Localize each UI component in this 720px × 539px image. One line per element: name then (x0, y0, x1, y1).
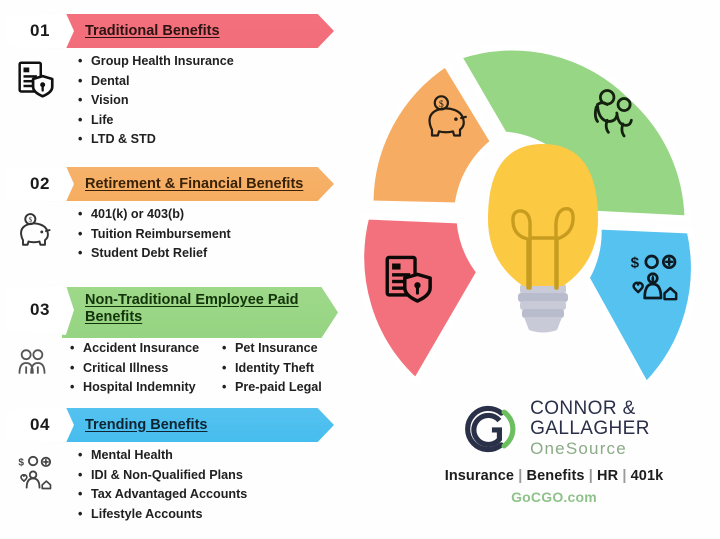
service-insurance: Insurance (445, 468, 514, 484)
two-people-icon (12, 343, 58, 389)
section-header-03: 03 Non-Traditional Employee Paid Benefit… (0, 283, 390, 337)
logo-line-2: GALLAGHER (530, 419, 650, 439)
section-header-04: 04 Trending Benefits (0, 404, 390, 444)
list-item: IDI & Non-Qualified Plans (78, 466, 390, 486)
section-number-badge-01: 01 (6, 13, 74, 49)
benefit-list-02: 401(k) or 403(b) Tuition Reimbursement S… (0, 205, 390, 264)
service-separator: | (518, 468, 522, 484)
two-people-icon (583, 84, 639, 140)
piggy-bank-icon: $ (418, 90, 474, 146)
section-title-banner-02: Retirement & Financial Benefits (62, 167, 334, 201)
benefits-list-column: 01 Traditional Benefits (0, 0, 390, 539)
benefit-section-01: 01 Traditional Benefits (0, 10, 390, 150)
list-item: Mental Health (78, 446, 390, 466)
brand-block: CONNOR & GALLAGHER OneSource Insurance |… (398, 398, 710, 534)
section-header-01: 01 Traditional Benefits (0, 10, 390, 50)
service-401k: 401k (631, 468, 664, 484)
list-item: 401(k) or 403(b) (78, 205, 390, 225)
benefit-list-01: Group Health Insurance Dental Vision Lif… (0, 52, 390, 150)
logo-row: CONNOR & GALLAGHER OneSource (398, 398, 710, 460)
document-shield-icon (12, 56, 58, 102)
section-body-04: $ Mental Health IDI & Non-Qualified Plan… (0, 446, 390, 524)
list-item: Vision (78, 91, 390, 111)
list-item: Group Health Insurance (78, 52, 390, 72)
benefit-section-04: 04 Trending Benefits $ (0, 404, 390, 524)
logo-line-3: OneSource (530, 439, 650, 459)
section-title-banner-03: Non-Traditional Employee Paid Benefits (62, 287, 338, 338)
service-hr: HR (597, 468, 618, 484)
list-item: Hospital Indemnity (70, 378, 222, 398)
svg-text:$: $ (631, 255, 640, 272)
benefit-section-02: 02 Retirement & Financial Benefits $ (0, 163, 390, 264)
logo-wordmark: CONNOR & GALLAGHER OneSource (530, 399, 650, 459)
section-number-badge-02: 02 (6, 166, 74, 202)
list-item: Accident Insurance (70, 339, 222, 359)
section-title-04: Trending Benefits (62, 417, 219, 434)
svg-text:$: $ (28, 215, 32, 224)
list-item: Lifestyle Accounts (78, 505, 390, 525)
list-item: Dental (78, 72, 390, 92)
benefit-list-04: Mental Health IDI & Non-Qualified Plans … (0, 446, 390, 524)
section-body-01: Group Health Insurance Dental Vision Lif… (0, 52, 390, 150)
lightbulb-icon (488, 144, 598, 333)
services-line: Insurance | Benefits | HR | 401k (398, 468, 710, 484)
connor-gallagher-logo-icon (458, 400, 524, 458)
petal-diagram: $ (358, 34, 718, 394)
logo-line-1: CONNOR & (530, 399, 650, 419)
infographic-canvas: 01 Traditional Benefits (0, 0, 720, 539)
list-item: Life (78, 111, 390, 131)
section-title-01: Traditional Benefits (62, 23, 232, 40)
service-benefits: Benefits (527, 468, 585, 484)
benefit-list-03: Accident Insurance Critical Illness Hosp… (0, 339, 390, 398)
section-title-02: Retirement & Financial Benefits (62, 176, 315, 193)
employee-wellbeing-icon: $ (626, 249, 682, 305)
list-item: Tuition Reimbursement (78, 225, 390, 245)
svg-text:$: $ (18, 458, 24, 469)
section-number-badge-03: 03 (6, 285, 74, 335)
list-item: Tax Advantaged Accounts (78, 485, 390, 505)
document-shield-icon (380, 249, 436, 305)
list-item: Critical Illness (70, 359, 222, 379)
benefit-section-03: 03 Non-Traditional Employee Paid Benefit… (0, 283, 390, 398)
list-item: Student Debt Relief (78, 244, 390, 264)
service-separator: | (622, 468, 626, 484)
section-title-banner-01: Traditional Benefits (62, 14, 334, 48)
list-item: LTD & STD (78, 130, 390, 150)
section-title-banner-04: Trending Benefits (62, 408, 334, 442)
service-separator: | (589, 468, 593, 484)
employee-wellbeing-icon: $ (12, 450, 58, 496)
section-number-badge-04: 04 (6, 407, 74, 443)
website-link[interactable]: GoCGO.com (398, 489, 710, 505)
section-header-02: 02 Retirement & Financial Benefits (0, 163, 390, 203)
section-body-03: Accident Insurance Critical Illness Hosp… (0, 339, 390, 398)
section-body-02: $ 401(k) or 403(b) Tuition Reimbursement… (0, 205, 390, 264)
svg-text:$: $ (439, 99, 444, 110)
piggy-bank-icon: $ (12, 209, 58, 255)
section-title-03: Non-Traditional Employee Paid Benefits (62, 287, 312, 326)
